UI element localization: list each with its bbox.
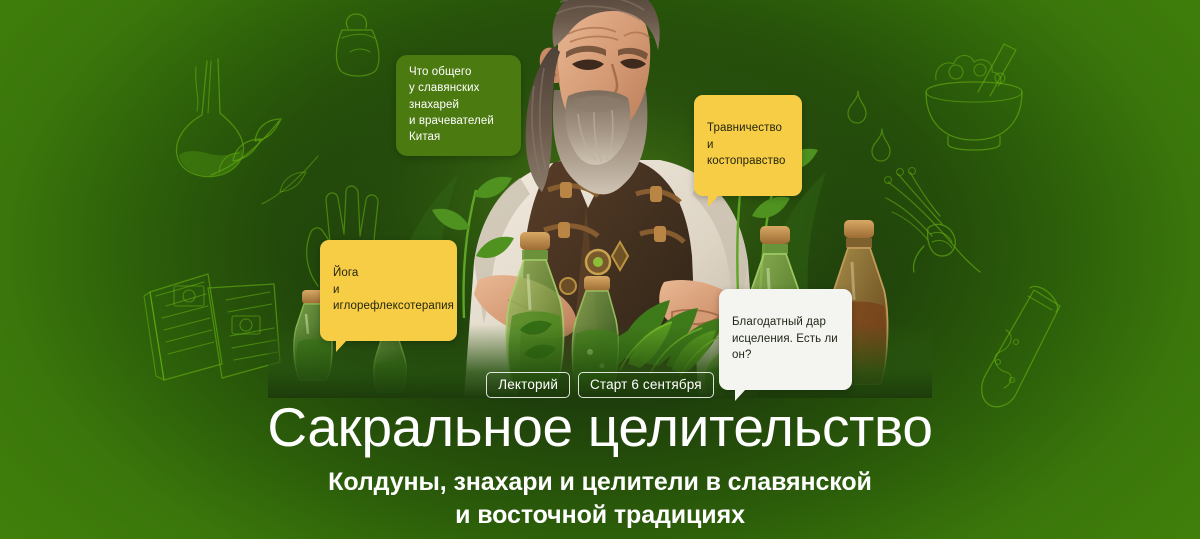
badge-format[interactable]: Лекторий [486, 372, 570, 398]
badge-start-date[interactable]: Старт 6 сентября [578, 372, 714, 398]
page-subtitle-line-1: Колдуны, знахари и целители в славянской [0, 466, 1200, 499]
bubble-slavic-chinese[interactable]: Что общего у славянских знахарей и враче… [396, 55, 521, 156]
page-subtitle: Колдуны, знахари и целители в славянской… [0, 466, 1200, 532]
page-title: Сакральное целительство [0, 398, 1200, 457]
badge-row: Лекторий Старт 6 сентября [0, 372, 1200, 398]
bubble-gift-of-healing-text: Благодатный дар исцеления. Есть ли он? [732, 316, 838, 361]
bubble-herbalism-text: Травничество и костоправство [707, 122, 786, 167]
bubble-yoga-text: Йога и иглорефлексотерапия [333, 267, 454, 312]
page-subtitle-line-2: и восточной традициях [0, 499, 1200, 532]
bubble-tail [708, 195, 719, 207]
flask-icon [150, 55, 280, 190]
bubble-herbalism[interactable]: Травничество и костоправство [694, 95, 802, 196]
bubble-yoga[interactable]: Йога и иглорефлексотерапия [320, 240, 457, 341]
bubble-tail [336, 340, 347, 352]
hero-banner: Что общего у славянских знахарей и враче… [0, 0, 1200, 539]
